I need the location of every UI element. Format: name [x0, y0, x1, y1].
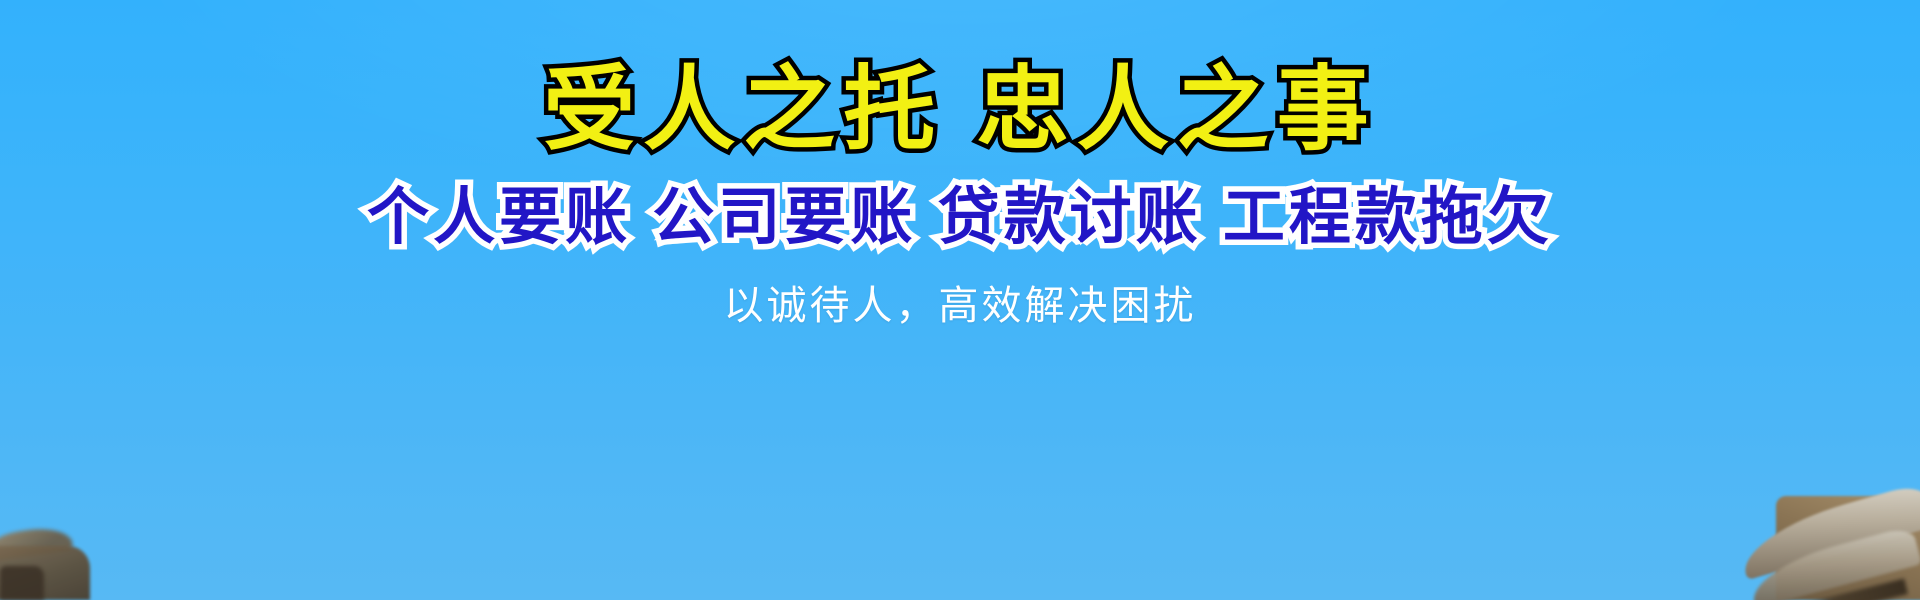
banner-tagline: 以诚待人，高效解决困扰: [724, 284, 1197, 328]
promotional-banner: 受人之托 忠人之事 个人要账 公司要账 贷款讨账 工程款拖欠 以诚待人，高效解决…: [0, 0, 1920, 600]
banner-text-stack: 受人之托 忠人之事 个人要账 公司要账 贷款讨账 工程款拖欠 以诚待人，高效解决…: [0, 0, 1920, 600]
banner-headline: 受人之托 忠人之事: [543, 62, 1377, 159]
banner-subheadline-services: 个人要账 公司要账 贷款讨账 工程款拖欠: [367, 185, 1553, 250]
